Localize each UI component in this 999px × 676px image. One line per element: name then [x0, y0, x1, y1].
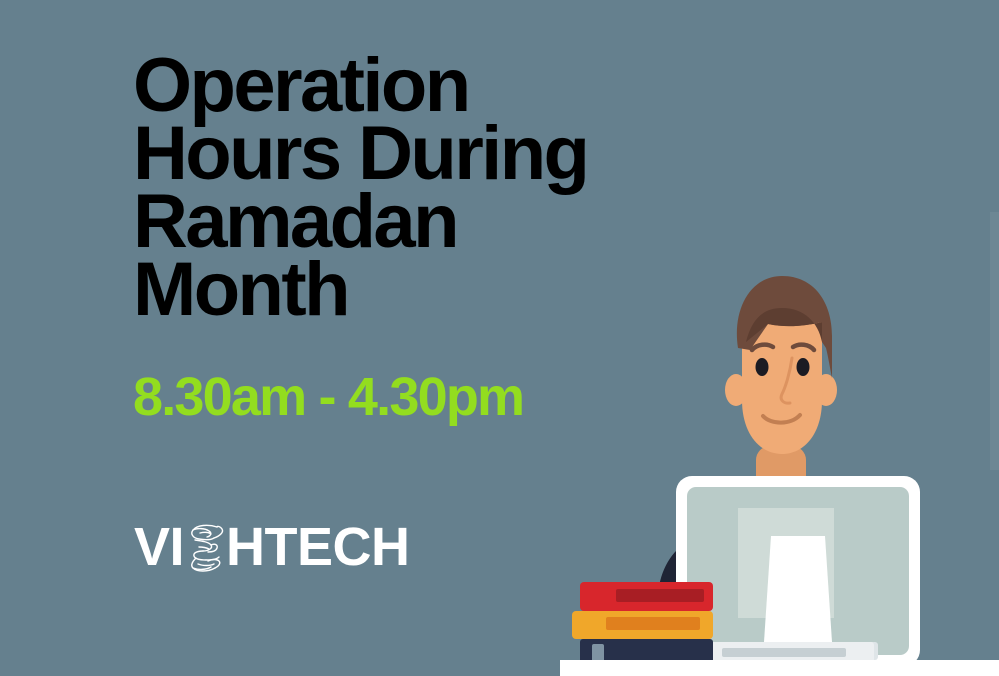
poster-canvas: Operation Hours During Ramadan Month 8.3…	[0, 0, 999, 676]
book-stack	[572, 582, 713, 667]
eye-right	[797, 358, 810, 376]
man-at-desk-illustration	[560, 250, 999, 676]
logo-text-after-mark: HTECH	[226, 520, 410, 574]
stylized-s-ribbon-icon	[184, 521, 226, 575]
computer-monitor	[676, 476, 920, 666]
vishtech-logo: VI HTECH	[134, 519, 410, 575]
operating-hours-text: 8.30am - 4.30pm	[133, 370, 523, 424]
desk	[560, 660, 999, 676]
logo-text-before-mark: VI	[134, 520, 184, 574]
eye-left	[756, 358, 769, 376]
head	[725, 276, 837, 454]
logo-wordmark: VI HTECH	[134, 520, 410, 574]
